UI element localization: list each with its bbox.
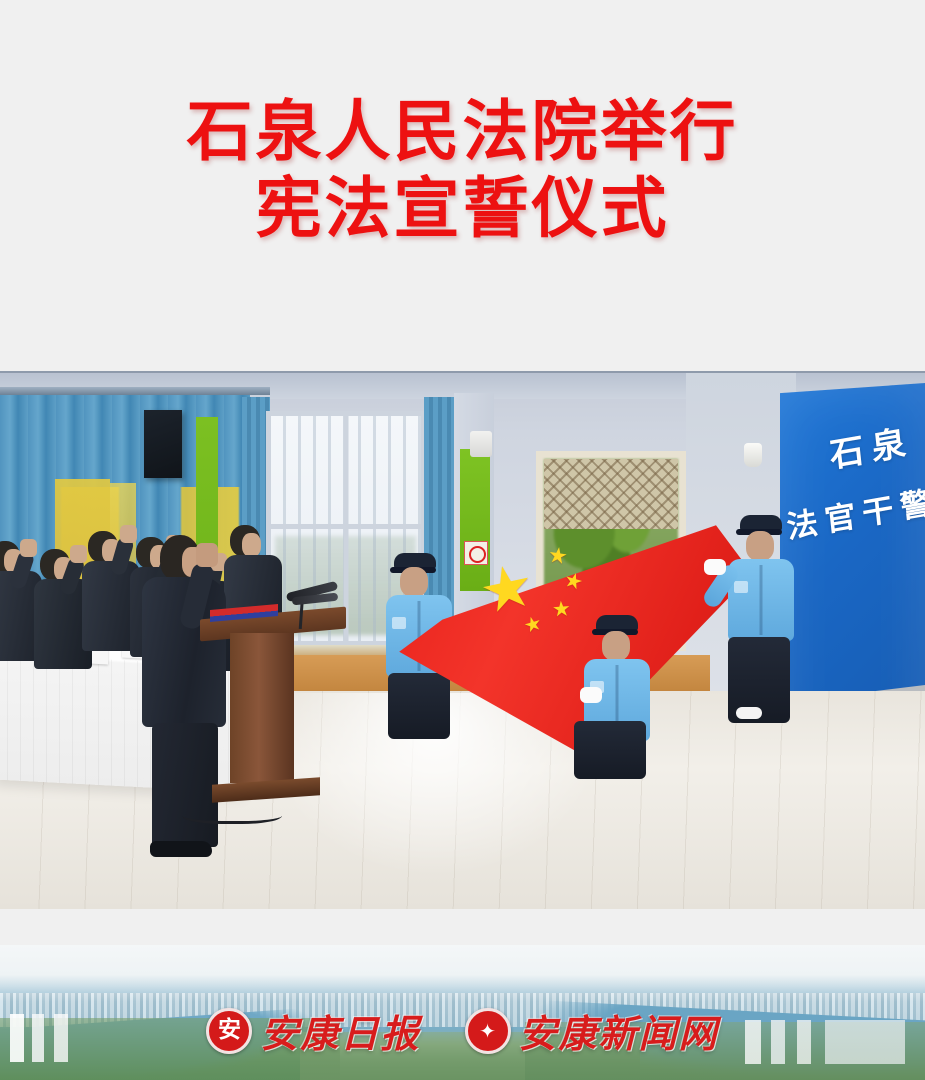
ankang-daily-logo-icon: 安 (206, 1008, 252, 1054)
person-fist (120, 525, 137, 543)
flag-star-small-icon: ★ (547, 544, 570, 569)
leader-raised-fist (196, 543, 218, 567)
officer-cap (596, 615, 638, 631)
logo-ankang-daily: 安 安康日报 (206, 1003, 420, 1058)
curtain-rod (0, 387, 270, 395)
ankang-daily-wordmark: 安康日报 (260, 1003, 420, 1058)
doorway-grille (544, 459, 678, 529)
officer-trousers (574, 721, 646, 779)
officer-shoe (736, 707, 762, 719)
leader-shoe (150, 841, 212, 857)
page-title: 石泉人民法院举行 宪法宣誓仪式 (0, 96, 925, 245)
officer-cap (740, 515, 782, 531)
officer-white-glove (580, 687, 602, 703)
footer-photo: 安 安康日报 ✦ 安康新闻网 (0, 945, 925, 1080)
wall-light-icon (744, 443, 762, 467)
ankang-news-logo-icon: ✦ (465, 1008, 511, 1054)
officer-face (602, 631, 630, 661)
person-fist (20, 539, 37, 557)
audio-cable (182, 803, 282, 824)
officer-face (746, 531, 774, 561)
ankang-news-wordmark: 安康新闻网 (519, 1003, 719, 1058)
leader-legs (152, 723, 218, 847)
wall-ac-unit-icon (470, 431, 492, 457)
logo-ankang-news: ✦ 安康新闻网 (465, 1003, 719, 1058)
main-photo: 石泉 法官干警 (0, 371, 925, 909)
flag-field (392, 523, 752, 753)
ceremony-scene: 石泉 法官干警 (0, 373, 925, 909)
logo-glyph: 安 (209, 1011, 249, 1051)
officer-white-glove (704, 559, 726, 575)
podium-column (230, 633, 294, 783)
person-fist (70, 545, 87, 563)
national-flag: ★ ★ ★ ★ ★ (392, 523, 752, 753)
footer-logo-row: 安 安康日报 ✦ 安康新闻网 (0, 1003, 925, 1058)
title-line-1: 石泉人民法院举行 (0, 96, 925, 167)
officer-badge (734, 581, 748, 593)
flag-star-small-icon: ★ (551, 598, 571, 620)
ceiling-speaker-icon (144, 410, 182, 478)
poster-root: 石泉人民法院举行 宪法宣誓仪式 (0, 0, 925, 1080)
title-line-2: 宪法宣誓仪式 (0, 173, 925, 244)
logo-glyph: ✦ (468, 1011, 508, 1051)
